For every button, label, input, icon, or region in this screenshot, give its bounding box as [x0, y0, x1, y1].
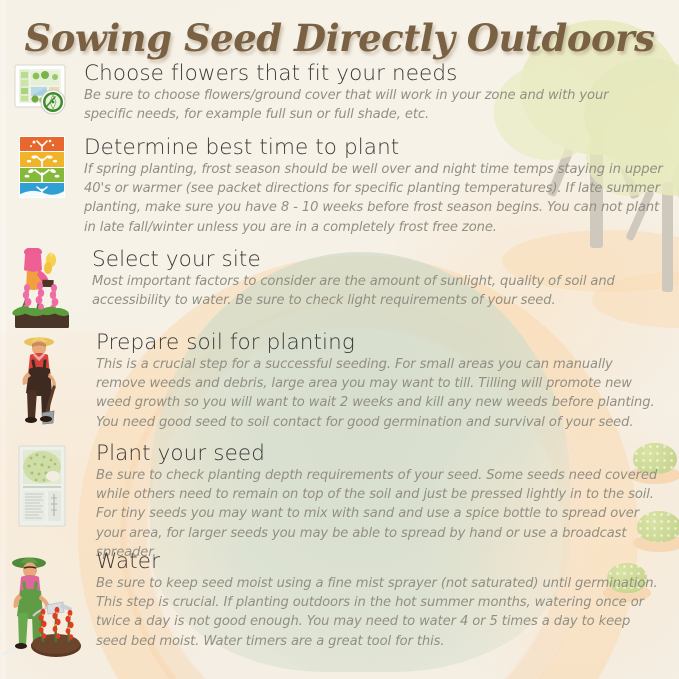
four-seasons-icon	[19, 136, 65, 198]
season-band-spring	[20, 137, 64, 151]
step-icon-slot	[0, 248, 84, 332]
step-heading: Water	[96, 550, 665, 573]
step-description: Be sure to keep seed moist using a fine …	[96, 574, 665, 650]
step-heading: Determine best time to plant	[84, 136, 665, 159]
step-heading: Plant your seed	[96, 442, 665, 465]
step-icon-slot	[0, 331, 84, 427]
step-item-prepare-soil: Prepare soil for planting This is a cruc…	[0, 331, 679, 432]
garden-plan-compass-icon	[11, 62, 73, 120]
step-heading: Select your site	[92, 248, 665, 271]
step-item-best-time: Determine best time to plant If spring p…	[0, 136, 679, 237]
gardener-with-shovel-icon	[13, 331, 71, 427]
gardener-watering-icon	[3, 550, 81, 660]
step-description: Be sure to check planting depth requirem…	[96, 466, 665, 562]
step-body: Prepare soil for planting This is a cruc…	[84, 331, 679, 432]
step-item-choose-flowers: Choose flowers that fit your needs Be su…	[0, 62, 679, 124]
step-description: This is a crucial step for a successful …	[96, 355, 665, 431]
step-icon-slot	[0, 442, 84, 530]
step-icon-slot	[0, 62, 84, 120]
step-body: Plant your seed Be sure to check plantin…	[84, 442, 679, 562]
season-band-autumn	[20, 168, 64, 182]
step-item-water: Water Be sure to keep seed moist using a…	[0, 550, 679, 660]
step-heading: Choose flowers that fit your needs	[84, 62, 659, 85]
season-band-summer	[20, 152, 64, 166]
infographic-poster: Sowing Seed Directly Outdoors	[0, 0, 679, 679]
step-icon-slot	[0, 550, 84, 660]
step-description: Most important factors to consider are t…	[92, 272, 665, 310]
season-band-winter	[20, 183, 64, 197]
poster-content: Sowing Seed Directly Outdoors	[0, 0, 679, 679]
step-icon-slot	[0, 136, 84, 198]
step-body: Water Be sure to keep seed moist using a…	[84, 550, 679, 651]
step-description: If spring planting, frost season should …	[84, 160, 665, 236]
step-item-select-site: Select your site Most important factors …	[0, 248, 679, 332]
step-item-plant-seed: Plant your seed Be sure to check plantin…	[0, 442, 679, 562]
step-heading: Prepare soil for planting	[96, 331, 665, 354]
step-body: Determine best time to plant If spring p…	[84, 136, 679, 237]
step-description: Be sure to choose flowers/ground cover t…	[84, 86, 659, 124]
step-body: Choose flowers that fit your needs Be su…	[84, 62, 679, 124]
page-title: Sowing Seed Directly Outdoors	[0, 16, 679, 60]
seed-packet-icon	[13, 442, 71, 530]
gardener-with-flowerbed-icon	[9, 248, 75, 332]
step-body: Select your site Most important factors …	[84, 248, 679, 310]
